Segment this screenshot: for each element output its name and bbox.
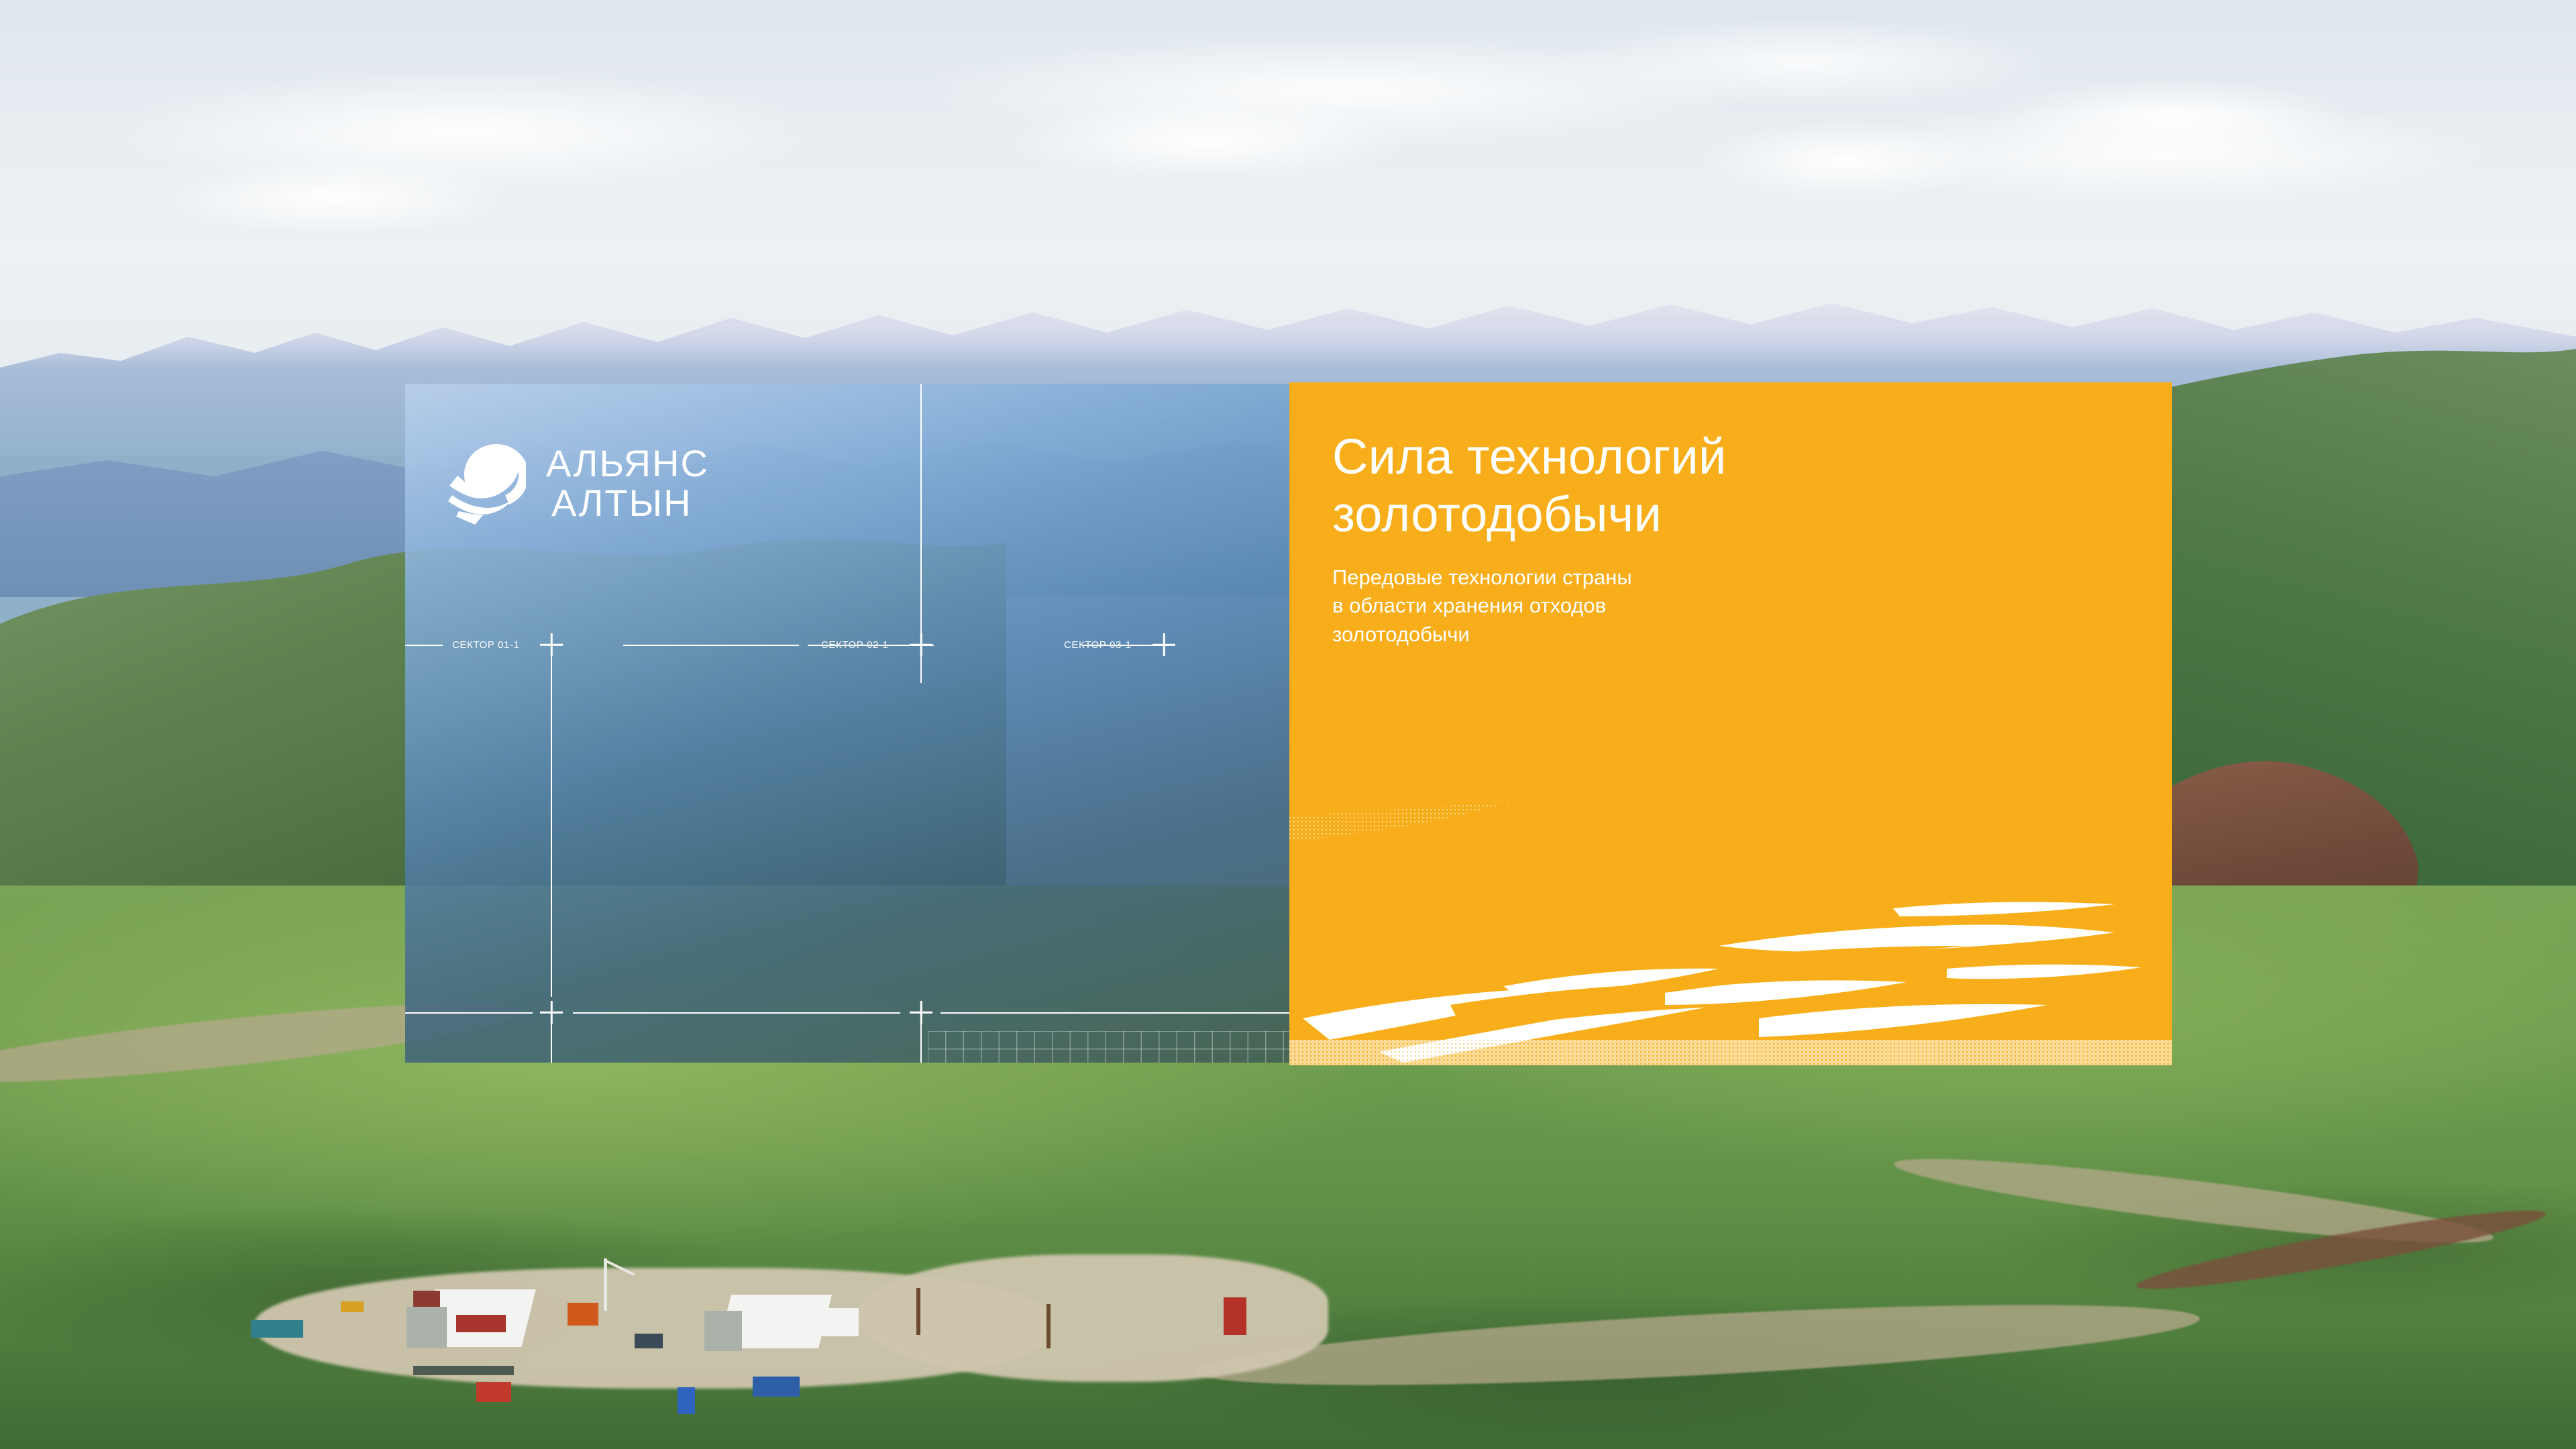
guide-line xyxy=(551,655,552,997)
utility-pole xyxy=(1046,1304,1051,1348)
guide-line xyxy=(920,384,922,639)
pipe-stack xyxy=(413,1366,514,1375)
guide-line xyxy=(623,645,799,646)
subheadline-line3: золотодобычи xyxy=(1332,623,1470,646)
cloud-puff xyxy=(1006,101,1409,181)
guide-line xyxy=(405,645,443,646)
sector-label-03: СЕКТОР 03-1 xyxy=(1064,639,1132,651)
orange-content-panel: Сила технологий золотодобычи Передовые т… xyxy=(1289,382,2172,1065)
sun-over-waves-icon xyxy=(448,443,526,525)
crosshair-marker xyxy=(540,633,563,656)
technical-grid xyxy=(928,1031,1289,1063)
headline-line2: золотодобычи xyxy=(1332,486,1662,542)
cloud-puff xyxy=(1999,80,2348,154)
machinery xyxy=(635,1334,663,1348)
crosshair-marker xyxy=(910,1001,932,1024)
shed xyxy=(805,1308,859,1336)
subheadline-line1: Передовые технологии страны xyxy=(1332,566,1632,589)
subheadline-line2: в области хранения отходов xyxy=(1332,594,1606,617)
guide-line xyxy=(405,1012,533,1014)
brand-name: АЛЬЯНС АЛТЫН xyxy=(546,444,709,523)
shipping-container xyxy=(413,1291,440,1307)
red-silo xyxy=(1224,1297,1246,1335)
brand-logo[interactable]: АЛЬЯНС АЛТЫН xyxy=(448,443,709,525)
guide-line xyxy=(920,1020,922,1063)
cloud-puff xyxy=(161,161,510,235)
brand-name-line2: АЛТЫН xyxy=(546,484,709,523)
guide-line xyxy=(920,655,922,683)
crosshair-marker xyxy=(540,1001,563,1024)
sector-label-01: СЕКТОР 01-1 xyxy=(452,639,520,651)
brand-name-line1: АЛЬЯНС xyxy=(546,442,709,484)
shipping-container xyxy=(456,1315,506,1332)
portable-toilet xyxy=(678,1387,695,1414)
blue-technical-panel: СЕКТОР 01-1 СЕКТОР 02-1 СЕКТОР 03-1 АЛЬЯ… xyxy=(405,384,1289,1063)
graded-pad xyxy=(859,1254,1328,1382)
subheadline: Передовые технологии страны в области хр… xyxy=(1332,563,2124,649)
excavator xyxy=(568,1303,598,1326)
sector-label-02: СЕКТОР 02-1 xyxy=(821,639,889,651)
crane-mast xyxy=(604,1258,607,1311)
shipping-container xyxy=(753,1377,800,1397)
mine-construction-site xyxy=(255,1248,1328,1442)
crosshair-marker xyxy=(1152,633,1175,656)
headline-line1: Сила технологий xyxy=(1332,429,1726,484)
utility-pole xyxy=(916,1288,920,1335)
crosshair-marker xyxy=(910,633,932,656)
guide-line xyxy=(941,1012,1289,1014)
excavator xyxy=(341,1301,364,1312)
guide-line xyxy=(551,1020,552,1063)
shipping-container xyxy=(476,1382,511,1402)
truck-trailer xyxy=(251,1320,303,1338)
hero-card: СЕКТОР 01-1 СЕКТОР 02-1 СЕКТОР 03-1 АЛЬЯ… xyxy=(405,384,2172,1065)
guide-line xyxy=(573,1012,900,1014)
cloud-puff xyxy=(1704,121,1986,201)
headline: Сила технологий золотодобычи xyxy=(1332,428,2124,543)
orange-text-block: Сила технологий золотодобычи Передовые т… xyxy=(1332,428,2124,649)
halftone-landscape-illustration xyxy=(1289,777,2172,1065)
